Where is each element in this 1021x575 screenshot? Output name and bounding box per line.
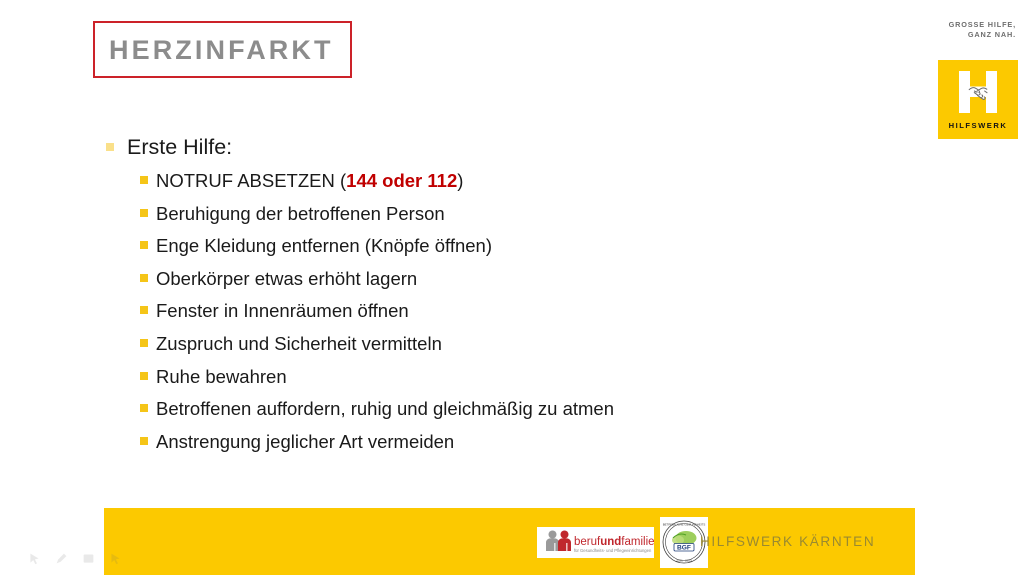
slide-content: Erste Hilfe: NOTRUF ABSETZEN (144 oder 1… [104,132,884,458]
list-item: Beruhigung der betroffenen Person [104,198,884,231]
brand-tagline: GROSSE HILFE, GANZ NAH. [930,20,1018,40]
svg-text:2021 · 2023: 2021 · 2023 [676,558,692,562]
hilfswerk-logo: HILFSWERK [938,60,1018,139]
list-item-label: Enge Kleidung entfernen (Knöpfe öffnen) [156,235,492,256]
berufundfamilie-logo: berufundfamilie für Gesundheits- und Pfl… [537,527,654,558]
svg-text:berufundfamilie: berufundfamilie [574,536,654,548]
svg-text:BETRIEBLICHE GESUNDHEITS: BETRIEBLICHE GESUNDHEITS [663,523,706,527]
first-aid-steps-list: NOTRUF ABSETZEN (144 oder 112) Beruhigun… [104,165,884,458]
list-item-label: Betroffenen auffordern, ruhig und gleich… [156,398,614,419]
list-item-label: Oberkörper etwas erhöht lagern [156,268,417,289]
berufundfamilie-logo-graphic: berufundfamilie für Gesundheits- und Pfl… [537,527,654,558]
list-item-label: Beruhigung der betroffenen Person [156,203,445,224]
bullet-heading: Erste Hilfe: [104,132,884,162]
footer-organisation-label: HILFSWERK KÄRNTEN [700,534,875,549]
svg-text:für Gesundheits- und Pflegeein: für Gesundheits- und Pflegeeinrichtungen [574,548,652,553]
bullet-square-icon [140,176,148,184]
list-item: NOTRUF ABSETZEN (144 oder 112) [104,165,884,198]
list-item-text-prefix: NOTRUF ABSETZEN ( [156,170,346,191]
emergency-numbers: 144 oder 112 [346,170,457,191]
bullet-square-icon [140,306,148,314]
list-item: Fenster in Innenräumen öffnen [104,295,884,328]
list-item-label: Zuspruch und Sicherheit vermitteln [156,333,442,354]
list-item: Zuspruch und Sicherheit vermitteln [104,328,884,361]
mouse-cursor-icon[interactable] [28,552,41,565]
list-item: Enge Kleidung entfernen (Knöpfe öffnen) [104,230,884,263]
status-icon-strip [28,552,122,565]
list-item-label: Fenster in Innenräumen öffnen [156,300,409,321]
list-item: Oberkörper etwas erhöht lagern [104,263,884,296]
bullet-square-icon [140,241,148,249]
list-item: Ruhe bewahren [104,361,884,394]
brand-block: GROSSE HILFE, GANZ NAH. HILFSWERK [930,20,1018,40]
list-item: Anstrengung jeglicher Art vermeiden [104,426,884,459]
notes-icon[interactable] [82,552,95,565]
list-item: Betroffenen auffordern, ruhig und gleich… [104,393,884,426]
bullet-square-icon [106,143,114,151]
page-title: HERZINFARKT [109,35,334,66]
pen-icon[interactable] [55,552,68,565]
svg-text:BGF: BGF [677,545,691,552]
bullet-square-icon [140,209,148,217]
bullet-square-icon [140,274,148,282]
bullet-square-icon [140,404,148,412]
footer-bar: berufundfamilie für Gesundheits- und Pfl… [104,508,915,575]
list-item-label: Ruhe bewahren [156,366,287,387]
slide-title-box: HERZINFARKT [93,21,352,78]
list-item-label: Anstrengung jeglicher Art vermeiden [156,431,454,452]
bullet-square-icon [140,372,148,380]
hilfswerk-logo-name: HILFSWERK [938,121,1018,130]
pointer-icon[interactable] [109,552,122,565]
hilfswerk-h-handshake-icon [957,70,999,114]
bullet-square-icon [140,339,148,347]
list-item-text-suffix: ) [457,170,463,191]
slide-canvas: HERZINFARKT GROSSE HILFE, GANZ NAH. HILF… [0,0,1021,575]
bullet-heading-label: Erste Hilfe: [127,135,232,159]
bullet-square-icon [140,437,148,445]
